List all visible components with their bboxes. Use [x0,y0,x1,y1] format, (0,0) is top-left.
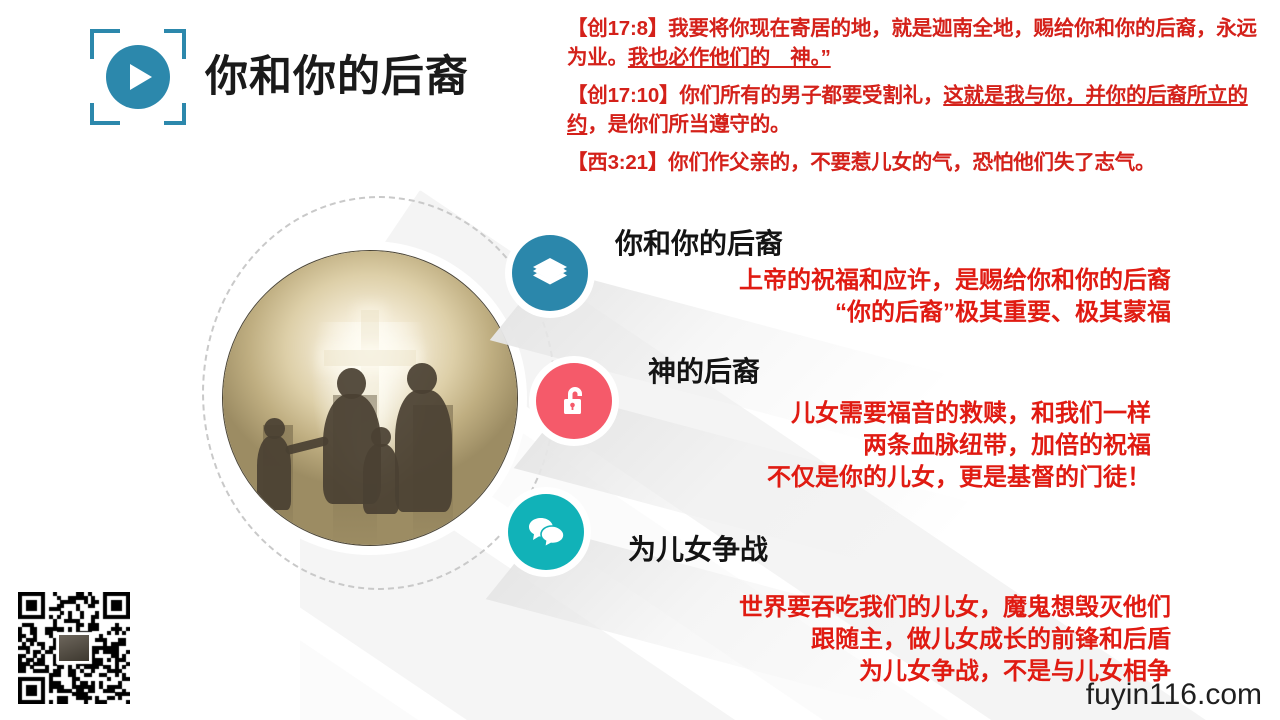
verse-underlined: 我也必作他们的 神。” [628,46,831,69]
cross-horizontal [324,350,416,366]
section-title-1: 你和你的后裔 [615,222,783,262]
section-line: 跟随主，做儿女成长的前锋和后盾 [671,624,1171,656]
family-silhouette-cross-photo [222,250,518,546]
child2-body [363,444,399,514]
unlock-padlock-icon[interactable] [536,363,612,439]
qr-center-logo [57,633,91,663]
section-line: 不仅是你的儿女，更是基督的门徒！ [671,462,1151,494]
section-title-3: 为儿女争战 [628,528,768,568]
section-line: 两条血脉纽带，加倍的祝福 [671,430,1151,462]
play-triangle-icon [130,64,152,90]
verse-item: 【西3:21】你们作父亲的，不要惹儿女的气，恐怕他们失了志气。 [567,148,1267,177]
scripture-block: 【创17:8】我要将你现在寄居的地，就是迦南全地，赐给你和你的后裔，永远为业。我… [567,14,1267,187]
verse-item: 【创17:10】你们所有的男子都要受割礼，这就是我与你，并你的后裔所立的约，是你… [567,81,1267,139]
layers-icon[interactable] [512,235,588,311]
verse-item: 【创17:8】我要将你现在寄居的地，就是迦南全地，赐给你和你的后裔，永远为业。我… [567,14,1267,72]
verse-reference: 【创17:8】 [567,17,668,40]
section-line: 世界要吞吃我们的儿女，魔鬼想毁灭他们 [671,592,1171,624]
verse-text: 你们作父亲的，不要惹儿女的气，恐怕他们失了志气。 [668,151,1155,174]
play-button-icon [106,45,170,109]
section-line: 为儿女争战，不是与儿女相争 [671,656,1171,688]
adult2-body [395,390,452,512]
page-title: 你和你的后裔 [205,42,469,104]
section-body-3: 世界要吞吃我们的儿女，魔鬼想毁灭他们 跟随主，做儿女成长的前锋和后盾 为儿女争战… [671,592,1171,688]
slide-canvas: 你和你的后裔 【创17:8】我要将你现在寄居的地，就是迦南全地，赐给你和你的后裔… [0,0,1280,720]
frame-gap [120,119,164,127]
speech-bubbles-icon[interactable] [508,494,584,570]
verse-text-tail: ，是你们所当遵守的。 [587,113,790,136]
verse-reference: 【创17:10】 [567,84,679,107]
frame-gap [120,27,164,35]
verse-reference: 【西3:21】 [567,151,668,174]
verse-text: 你们所有的男子都要受割礼， [679,84,943,107]
section-body-2: 儿女需要福音的救赎，和我们一样 两条血脉纽带，加倍的祝福 不仅是你的儿女，更是基… [671,398,1151,494]
brand-logo [90,29,186,125]
section-line: 儿女需要福音的救赎，和我们一样 [671,398,1151,430]
qr-code[interactable] [18,592,130,704]
section-title-2: 神的后裔 [648,350,760,390]
section-body-1: 上帝的祝福和应许，是赐给你和你的后裔 “你的后裔”极其重要、极其蒙福 [671,265,1171,329]
section-line: “你的后裔”极其重要、极其蒙福 [671,297,1171,329]
section-line: 上帝的祝福和应许，是赐给你和你的后裔 [671,265,1171,297]
